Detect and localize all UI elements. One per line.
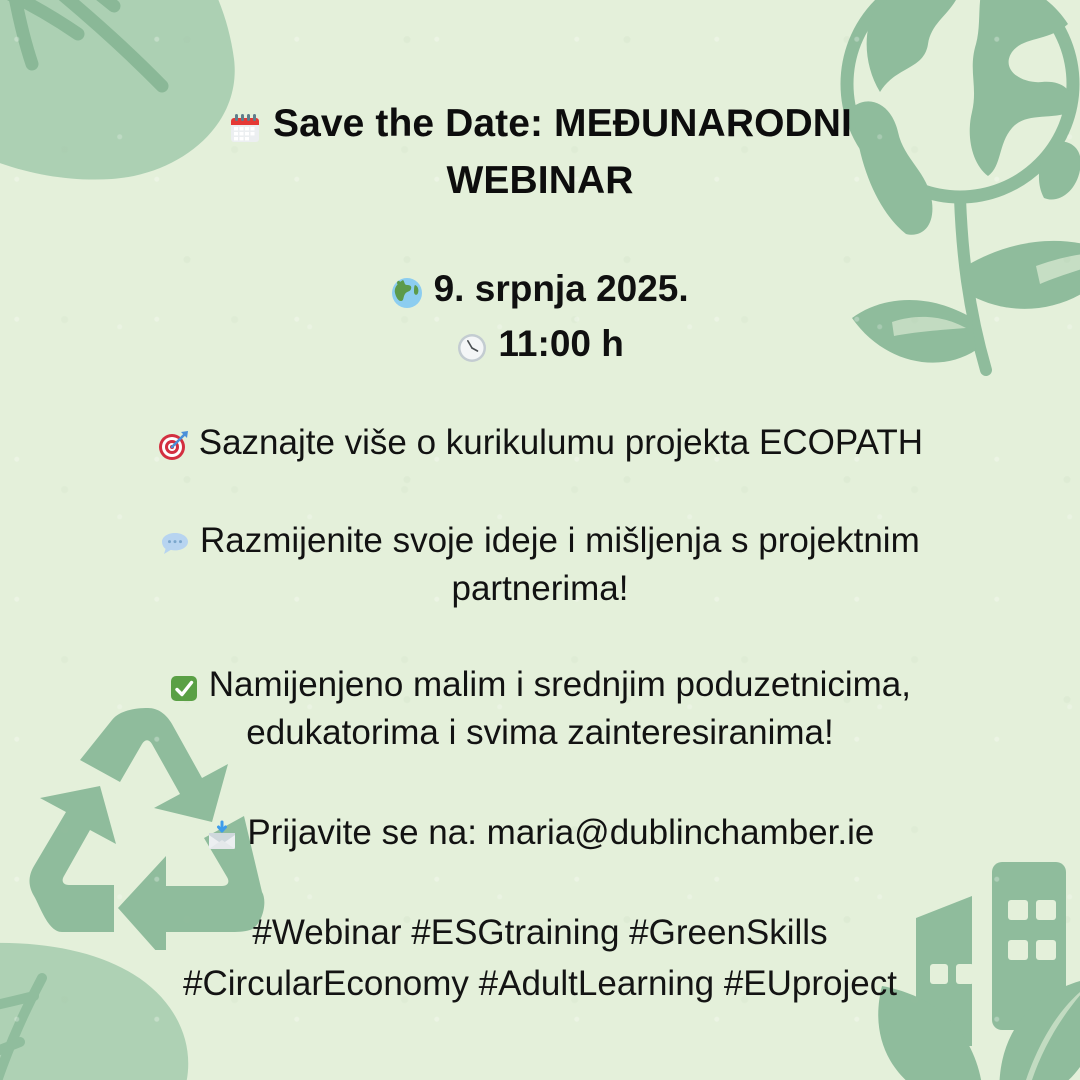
title-line-2: WEBINAR	[60, 153, 1020, 208]
hashtag-line-1: #Webinar #ESGtraining #GreenSkills	[60, 908, 1020, 959]
hashtag-line-2: #CircularEconomy #AdultLearning #EUproje…	[60, 959, 1020, 1010]
clock-eleven-oclock-icon	[456, 319, 488, 372]
speech-balloon-icon	[160, 520, 190, 566]
title-text-1: Save the Date: MEĐUNARODNI	[273, 102, 852, 145]
bullet-text-1: Saznajte više o kurikulumu projekta ECOP…	[199, 423, 923, 462]
bullet-line-2b: partnerima!	[60, 566, 1020, 612]
time-line: 11:00 h	[60, 317, 1020, 372]
calendar-icon	[228, 98, 262, 153]
bullet-text-2a: Razmijenite svoje ideje i mišljenja s pr…	[200, 521, 920, 560]
bullet-item-3: Namijenjeno malim i srednjim poduzetnici…	[60, 662, 1020, 756]
title-block: Save the Date: MEĐUNARODNI WEBINAR	[60, 96, 1020, 209]
bullet-item-2: Razmijenite svoje ideje i mišljenja s pr…	[60, 518, 1020, 612]
bullet-text-4: Prijavite se na: maria@dublinchamber.ie	[247, 813, 874, 852]
target-dart-icon	[157, 422, 189, 468]
bullet-line-2a: Razmijenite svoje ideje i mišljenja s pr…	[60, 518, 1020, 566]
globe-europe-africa-icon	[391, 264, 423, 317]
date-text: 9. srpnja 2025.	[434, 268, 689, 309]
date-line: 9. srpnja 2025.	[60, 262, 1020, 317]
check-mark-button-icon	[169, 664, 199, 710]
time-text: 11:00 h	[498, 323, 623, 364]
bullet-line-3a: Namijenjeno malim i srednjim poduzetnici…	[60, 662, 1020, 710]
bullet-item-4: Prijavite se na: maria@dublinchamber.ie	[60, 810, 1020, 858]
envelope-incoming-icon	[206, 812, 238, 858]
title-line-1: Save the Date: MEĐUNARODNI	[60, 96, 1020, 153]
bullet-text-3a: Namijenjeno malim i srednjim poduzetnici…	[209, 665, 911, 704]
poster-canvas: Save the Date: MEĐUNARODNI WEBINAR 9. sr…	[0, 0, 1080, 1080]
hashtags-block: #Webinar #ESGtraining #GreenSkills #Circ…	[60, 908, 1020, 1010]
datetime-block: 9. srpnja 2025. 11:00 h	[60, 262, 1020, 373]
bullet-item-1: Saznajte više o kurikulumu projekta ECOP…	[60, 420, 1020, 468]
bullet-line-3b: edukatorima i svima zainteresiranima!	[60, 710, 1020, 756]
poster-content: Save the Date: MEĐUNARODNI WEBINAR 9. sr…	[0, 0, 1080, 1080]
